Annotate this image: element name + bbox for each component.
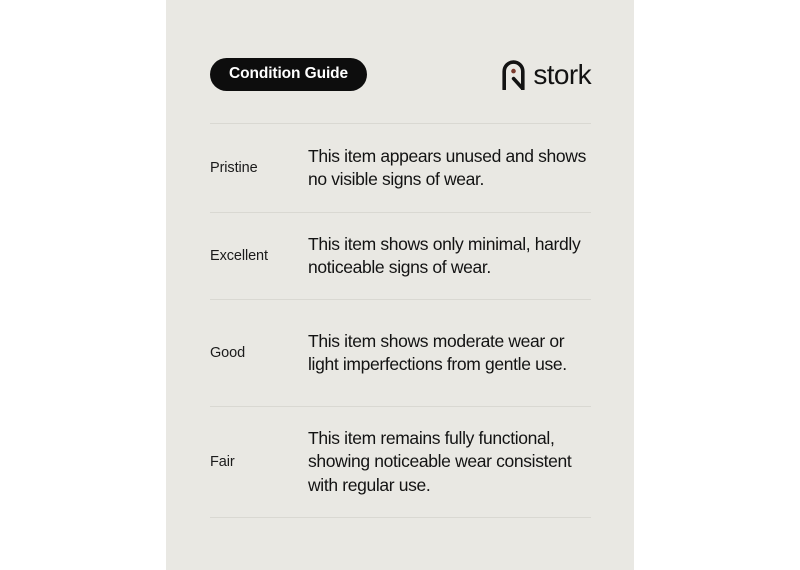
brand-wordmark: stork bbox=[533, 61, 591, 89]
brand-logo: stork bbox=[501, 59, 591, 90]
condition-label: Good bbox=[210, 345, 308, 361]
stork-arch-logo-icon bbox=[501, 59, 526, 90]
condition-guide-card: Condition Guide stork P bbox=[166, 0, 634, 570]
condition-description: This item shows only minimal, hardly not… bbox=[308, 227, 591, 285]
condition-description: This item appears unused and shows no vi… bbox=[308, 139, 591, 197]
row-divider bbox=[210, 517, 591, 518]
table-row: Good This item shows moderate wear or li… bbox=[210, 300, 591, 406]
condition-guide-table: Pristine This item appears unused and sh… bbox=[210, 123, 591, 518]
condition-label: Excellent bbox=[210, 248, 308, 264]
condition-guide-badge: Condition Guide bbox=[210, 58, 367, 91]
table-row: Fair This item remains fully functional,… bbox=[210, 407, 591, 517]
card-header: Condition Guide stork bbox=[210, 54, 591, 94]
table-row: Pristine This item appears unused and sh… bbox=[210, 124, 591, 212]
table-row: Excellent This item shows only minimal, … bbox=[210, 213, 591, 299]
condition-description: This item shows moderate wear or light i… bbox=[308, 324, 591, 382]
condition-label: Fair bbox=[210, 454, 308, 470]
page-canvas: Condition Guide stork P bbox=[0, 0, 800, 570]
condition-description: This item remains fully functional, show… bbox=[308, 421, 591, 502]
condition-label: Pristine bbox=[210, 160, 308, 176]
